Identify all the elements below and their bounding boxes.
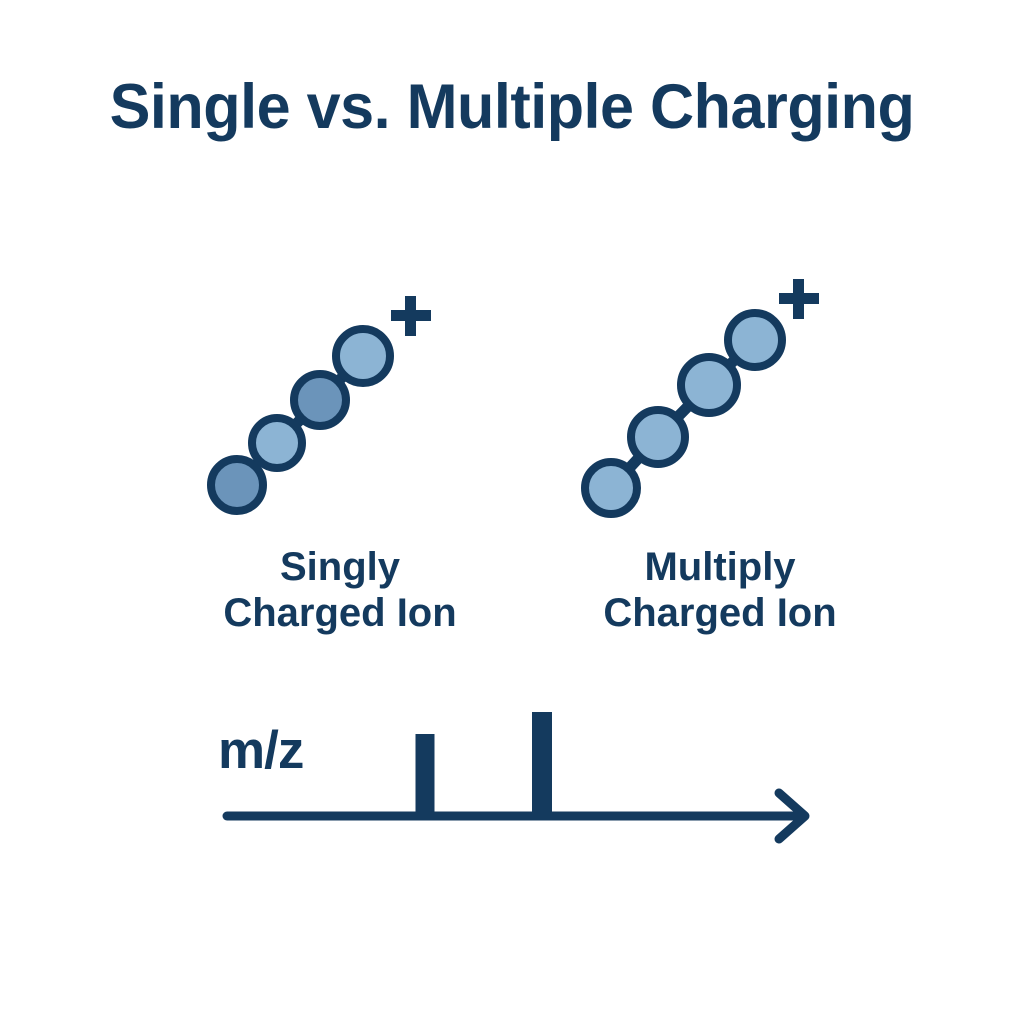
multiply-ion-plus-icon xyxy=(779,279,819,319)
multiply-caption-line-2: Charged Ion xyxy=(525,591,915,637)
multiply-charged-ion-graphic xyxy=(585,313,782,514)
singly-ion-bead-2 xyxy=(252,418,302,468)
multiply-charged-ion-caption: Multiply Charged Ion xyxy=(525,545,915,636)
multiply-ion-bead-1 xyxy=(585,462,637,514)
spectrum-peak-2 xyxy=(532,712,552,816)
singly-ion-bead-4 xyxy=(336,329,390,383)
spectrum-peak-1 xyxy=(416,734,435,816)
singly-charged-ion-caption: Singly Charged Ion xyxy=(155,545,525,636)
mz-axis-label: m/z xyxy=(218,724,303,777)
singly-caption-line-2: Charged Ion xyxy=(155,591,525,637)
mass-spectrum xyxy=(227,712,805,839)
singly-ion-bead-1 xyxy=(211,459,263,511)
singly-caption-line-1: Singly xyxy=(155,545,525,591)
multiply-ion-bead-2 xyxy=(631,410,685,464)
multiply-ion-bead-4 xyxy=(728,313,782,367)
singly-charged-ion-graphic xyxy=(211,329,390,511)
singly-ion-plus-icon xyxy=(391,296,431,336)
charging-diagram xyxy=(0,0,1024,1024)
multiply-ion-bead-3 xyxy=(681,357,737,413)
singly-ion-bead-3 xyxy=(294,374,346,426)
multiply-caption-line-1: Multiply xyxy=(525,545,915,591)
infographic-canvas: Single vs. Multiple Charging xyxy=(0,0,1024,1024)
